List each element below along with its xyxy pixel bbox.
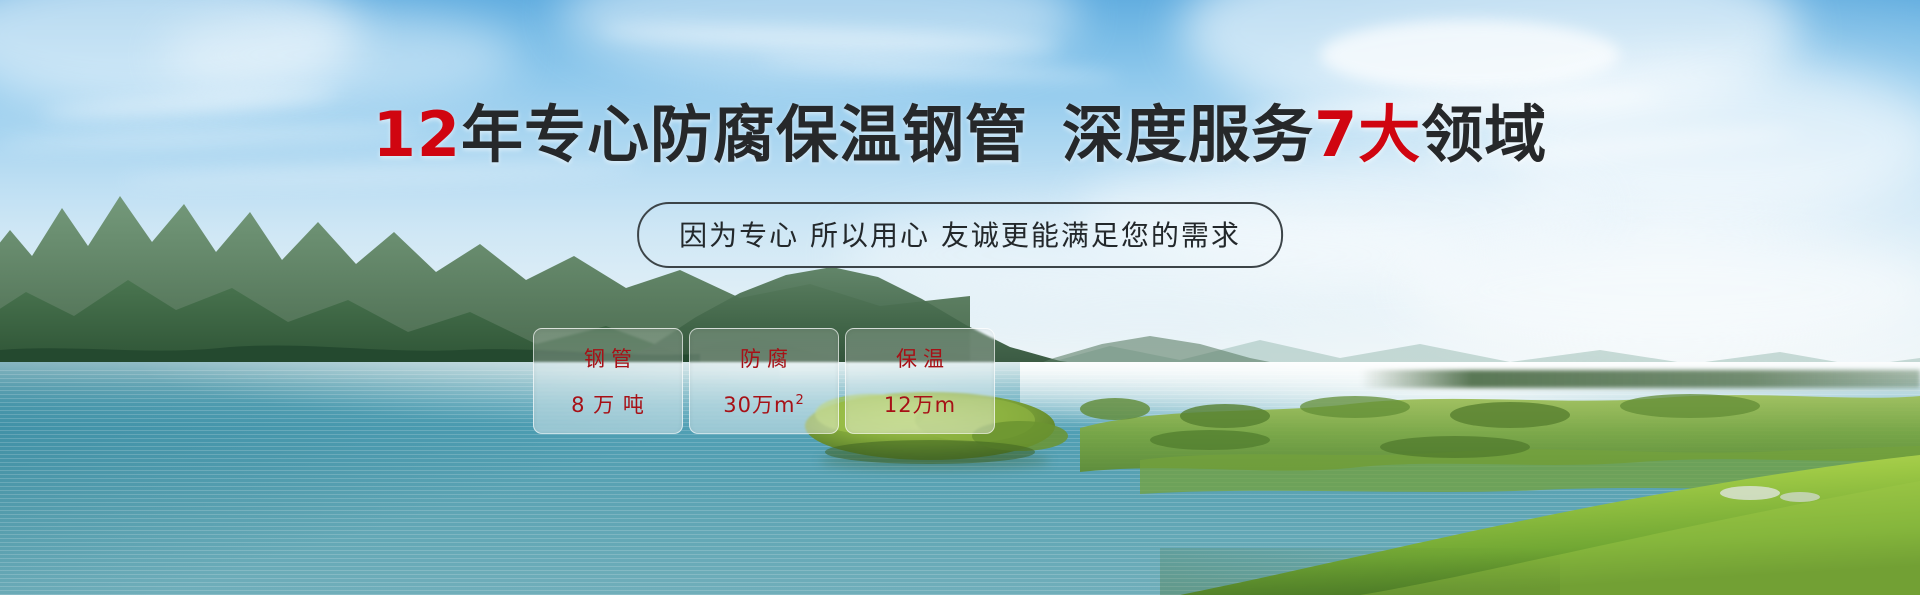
shore-rocks — [1780, 492, 1820, 502]
stat-title: 防腐 — [734, 343, 794, 373]
tree-line-right — [1360, 370, 1920, 388]
stat-card-group: 钢管 8 万 吨 防腐 30万m2 保温 12万m — [533, 328, 995, 434]
island-reflection — [820, 452, 1050, 470]
stat-title: 钢管 — [578, 343, 638, 373]
grass-tuft — [1180, 404, 1270, 428]
grass-tuft — [1450, 402, 1570, 428]
shore-rocks — [1720, 486, 1780, 500]
headline-number: 7 — [1314, 98, 1358, 171]
headline-main: 年专心防腐保温钢管 — [461, 98, 1028, 171]
stat-value: 8 万 吨 — [571, 389, 645, 419]
stat-title: 保温 — [890, 343, 950, 373]
stat-value-text: 12万m — [884, 393, 956, 417]
stat-card-steel-pipe[interactable]: 钢管 8 万 吨 — [533, 328, 683, 434]
grass-field-shadow — [1160, 548, 1560, 595]
stat-value-text: 30万m — [723, 393, 795, 417]
subtitle-pill: 因为专心 所以用心 友诚更能满足您的需求 — [637, 202, 1283, 268]
hero-banner: 12年专心防腐保温钢管深度服务7大领域 因为专心 所以用心 友诚更能满足您的需求… — [0, 0, 1920, 595]
grass-tuft — [1080, 398, 1150, 420]
page-title: 12年专心防腐保温钢管深度服务7大领域 — [0, 84, 1920, 174]
grass-tuft — [1150, 430, 1270, 450]
stat-value: 30万m2 — [723, 389, 804, 419]
stat-value-text: 8 万 吨 — [571, 393, 645, 417]
headline-years: 12 — [373, 98, 461, 171]
stat-card-anticorrosion[interactable]: 防腐 30万m2 — [689, 328, 839, 434]
stat-value-sup: 2 — [795, 393, 804, 408]
grass-tuft — [1300, 396, 1410, 418]
headline-da: 大 — [1358, 98, 1421, 171]
headline-service: 深度服务 — [1062, 98, 1314, 171]
stat-value: 12万m — [884, 389, 956, 419]
stat-card-insulation[interactable]: 保温 12万m — [845, 328, 995, 434]
grass-tuft — [1620, 394, 1760, 418]
headline-fields: 领域 — [1421, 98, 1547, 171]
